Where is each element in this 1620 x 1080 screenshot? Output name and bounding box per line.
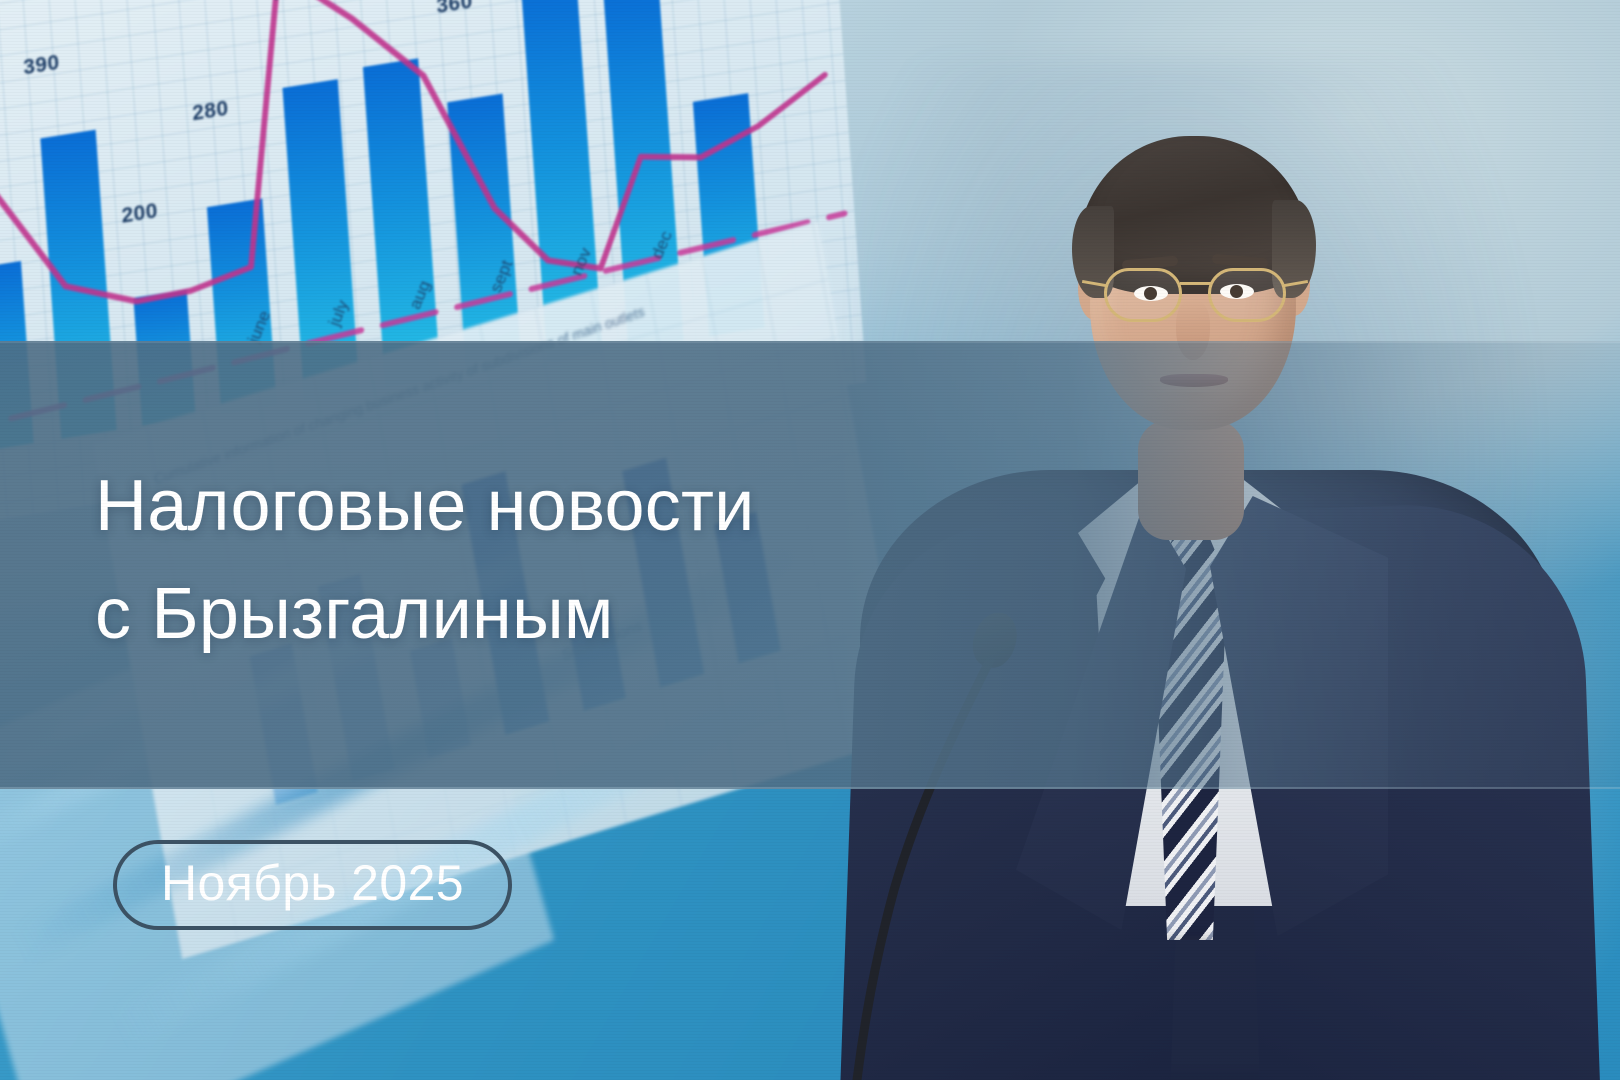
- band-bottom-edge: [0, 787, 1620, 789]
- glasses-bridge: [1180, 282, 1212, 285]
- lens-left: [1104, 268, 1182, 322]
- date-badge[interactable]: Ноябрь 2025: [113, 840, 512, 930]
- lens-right: [1208, 268, 1286, 322]
- eyeglasses: [1104, 268, 1286, 330]
- page-title: Налоговые новости с Брызгалиным: [95, 452, 995, 668]
- band-top-edge: [0, 341, 1620, 343]
- slide-canvas: 390 250 200 280 400 410 360 470 455 june…: [0, 0, 1620, 1080]
